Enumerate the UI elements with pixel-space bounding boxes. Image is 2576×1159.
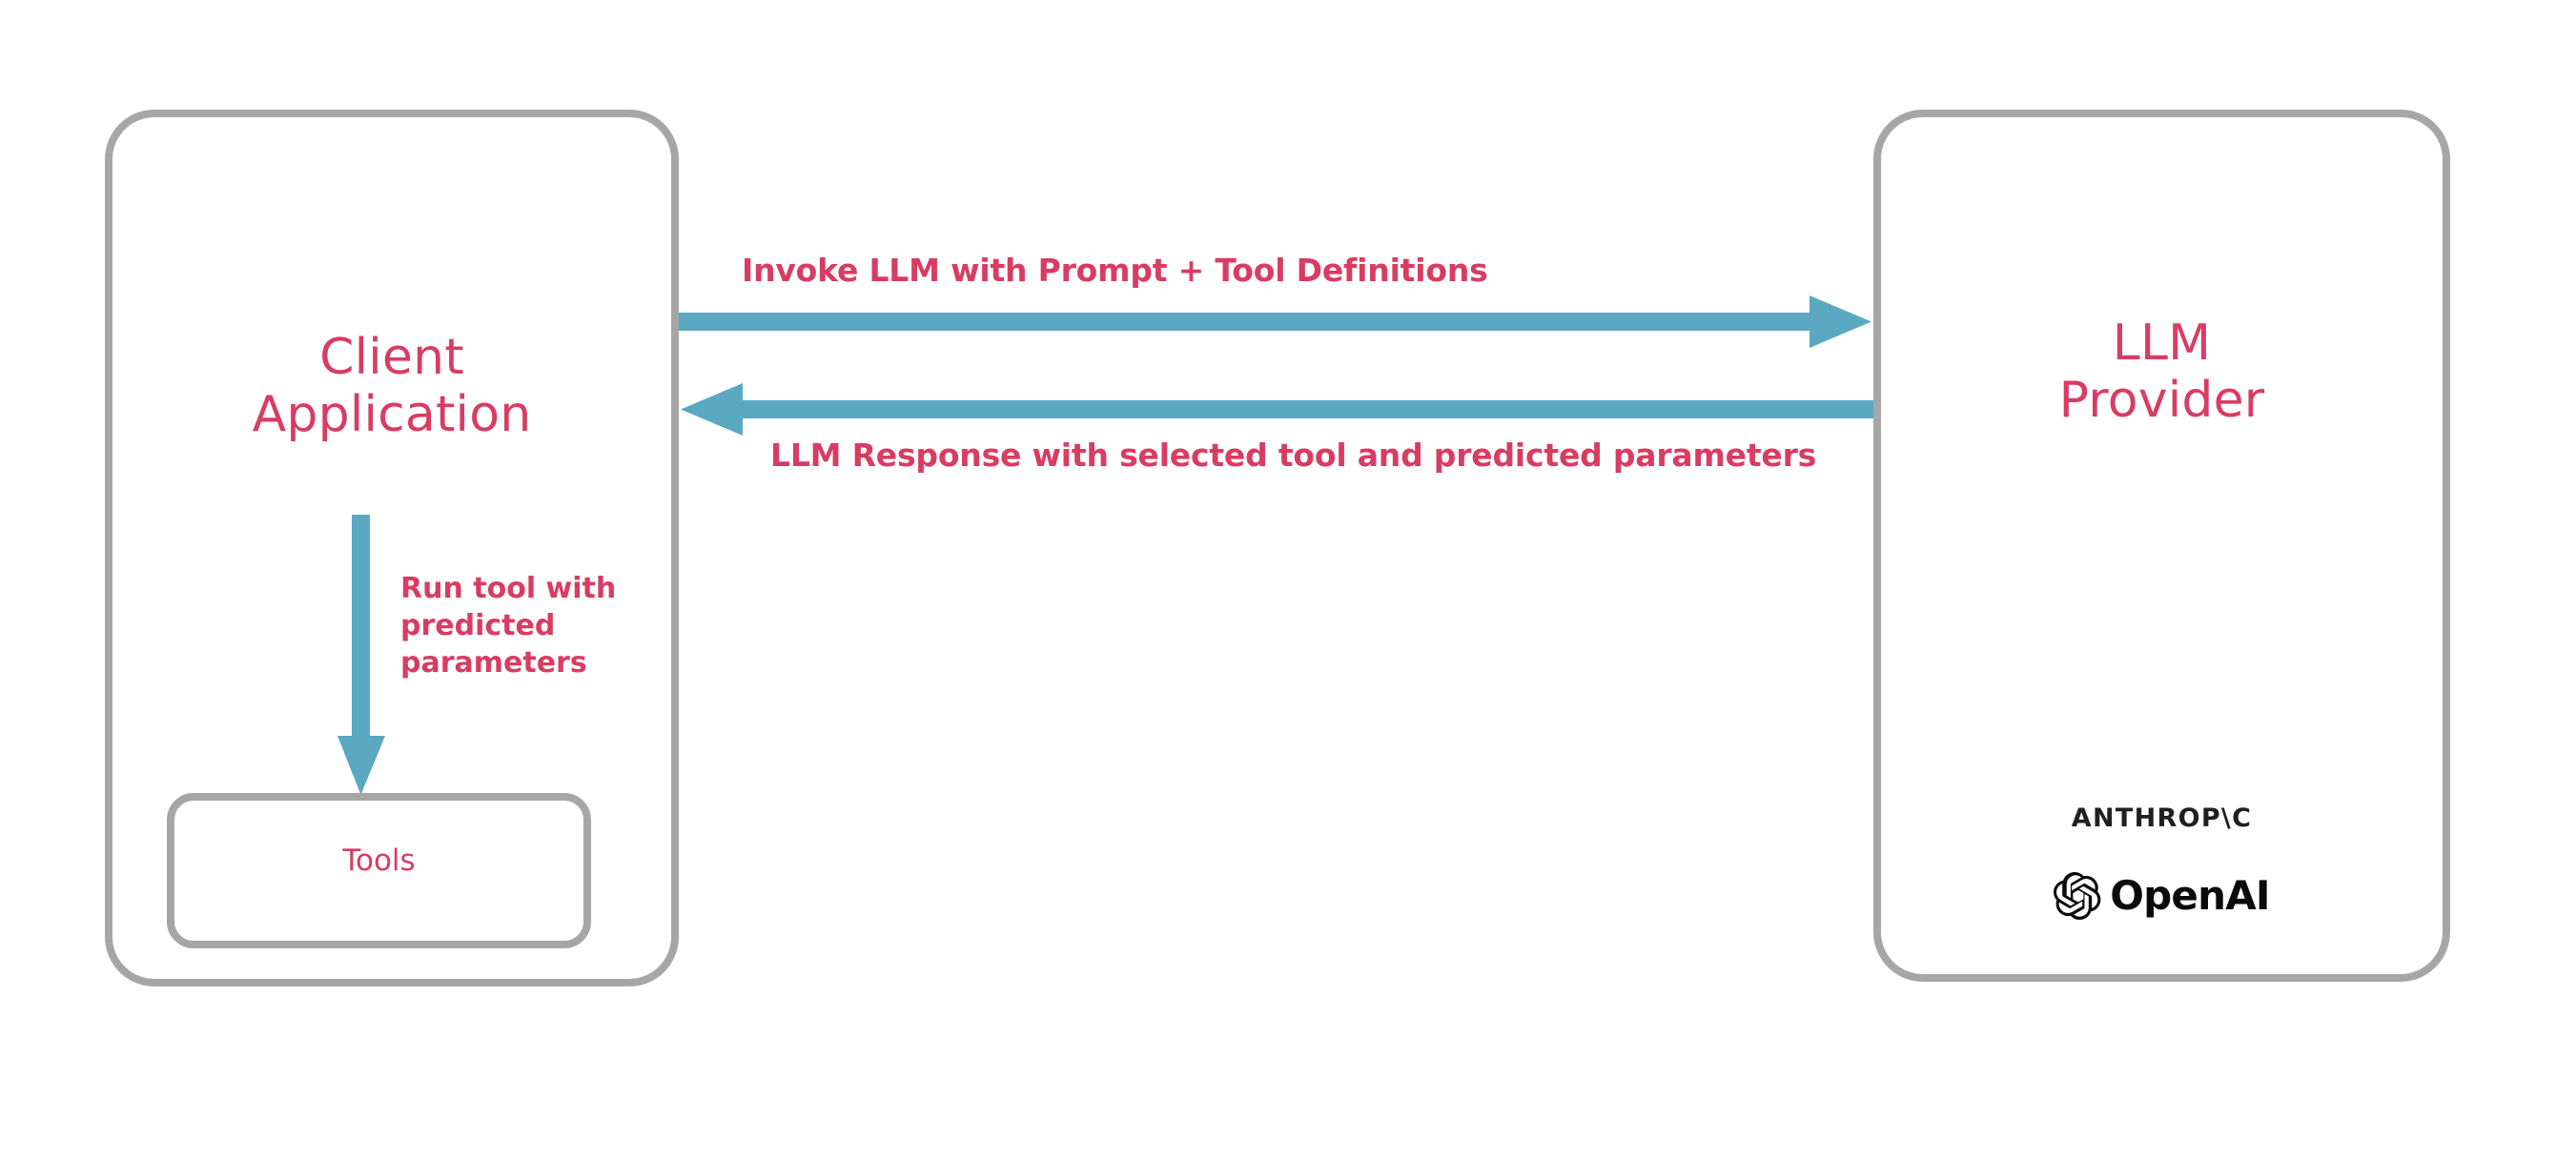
openai-logo-group: OpenAI xyxy=(1873,872,2450,920)
run-tool-arrow-label: Run tool with predicted parameters xyxy=(400,570,667,681)
client-application-title: Client Application xyxy=(105,329,679,444)
llm-provider-title: LLM Provider xyxy=(1873,315,2450,430)
response-flow-label: LLM Response with selected tool and pred… xyxy=(770,437,1816,474)
openai-mark-icon xyxy=(2054,872,2101,920)
invoke-flow-label: Invoke LLM with Prompt + Tool Definition… xyxy=(742,252,1488,289)
invoke-flow-arrow xyxy=(679,295,1873,349)
run-tool-arrow xyxy=(334,515,391,797)
llm-provider-box xyxy=(1873,110,2450,982)
openai-wordmark: OpenAI xyxy=(2110,876,2270,916)
tools-label: Tools xyxy=(167,844,591,878)
anthropic-logo: ANTHROP\C xyxy=(1873,803,2450,833)
response-flow-arrow xyxy=(679,383,1873,437)
diagram-canvas: Client Application Run tool with predict… xyxy=(0,0,2576,1159)
